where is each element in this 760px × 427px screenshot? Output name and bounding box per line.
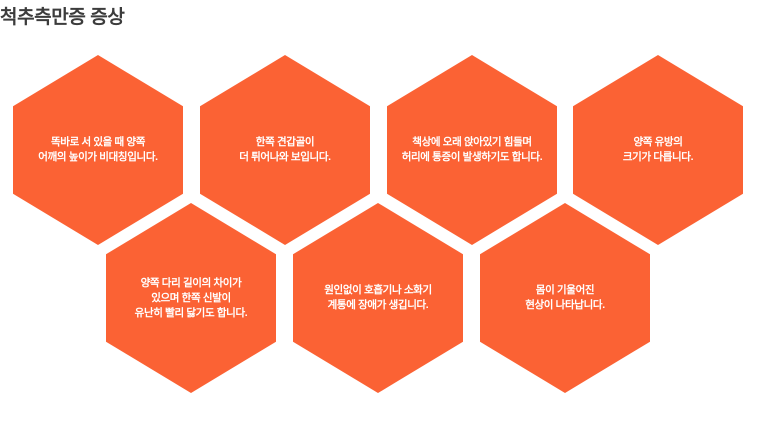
hexagon-symptom-4-label: 양쪽 유방의 크기가 다릅니다. (615, 135, 701, 165)
hexagon-symptom-6-label: 원인없이 호흡기나 소화기 계통에 장애가 생깁니다. (316, 283, 440, 313)
hexagon-symptom-3-label: 책상에 오래 앉아있기 힘들며 허리에 통증이 발생하기도 합니다. (394, 135, 551, 165)
hexagon-symptom-2: 한쪽 견갑골이 더 튀어나와 보입니다. (200, 55, 370, 245)
hexagon-symptom-4: 양쪽 유방의 크기가 다릅니다. (573, 55, 743, 245)
hexagon-symptom-2-label: 한쪽 견갑골이 더 튀어나와 보입니다. (231, 135, 339, 165)
hexagon-symptom-6: 원인없이 호흡기나 소화기 계통에 장애가 생깁니다. (293, 203, 463, 393)
symptom-hexagon-diagram: 똑바로 서 있을 때 양쪽 어깨의 높이가 비대칭입니다. 한쪽 견갑골이 더 … (0, 0, 760, 427)
hexagon-symptom-5: 양쪽 다리 길이의 차이가 있으며 한쪽 신발이 유난히 빨리 닳기도 합니다. (106, 203, 276, 393)
hexagon-symptom-7: 몸이 기울어진 현상이 나타납니다. (480, 203, 650, 393)
hexagon-symptom-1: 똑바로 서 있을 때 양쪽 어깨의 높이가 비대칭입니다. (13, 55, 183, 245)
hexagon-symptom-3: 책상에 오래 앉아있기 힘들며 허리에 통증이 발생하기도 합니다. (387, 55, 557, 245)
hexagon-symptom-7-label: 몸이 기울어진 현상이 나타납니다. (517, 283, 613, 313)
page-root: 척추측만증 증상 똑바로 서 있을 때 양쪽 어깨의 높이가 비대칭입니다. 한… (0, 0, 760, 427)
hexagon-symptom-1-label: 똑바로 서 있을 때 양쪽 어깨의 높이가 비대칭입니다. (30, 135, 165, 165)
hexagon-symptom-5-label: 양쪽 다리 길이의 차이가 있으며 한쪽 신발이 유난히 빨리 닳기도 합니다. (127, 276, 256, 321)
